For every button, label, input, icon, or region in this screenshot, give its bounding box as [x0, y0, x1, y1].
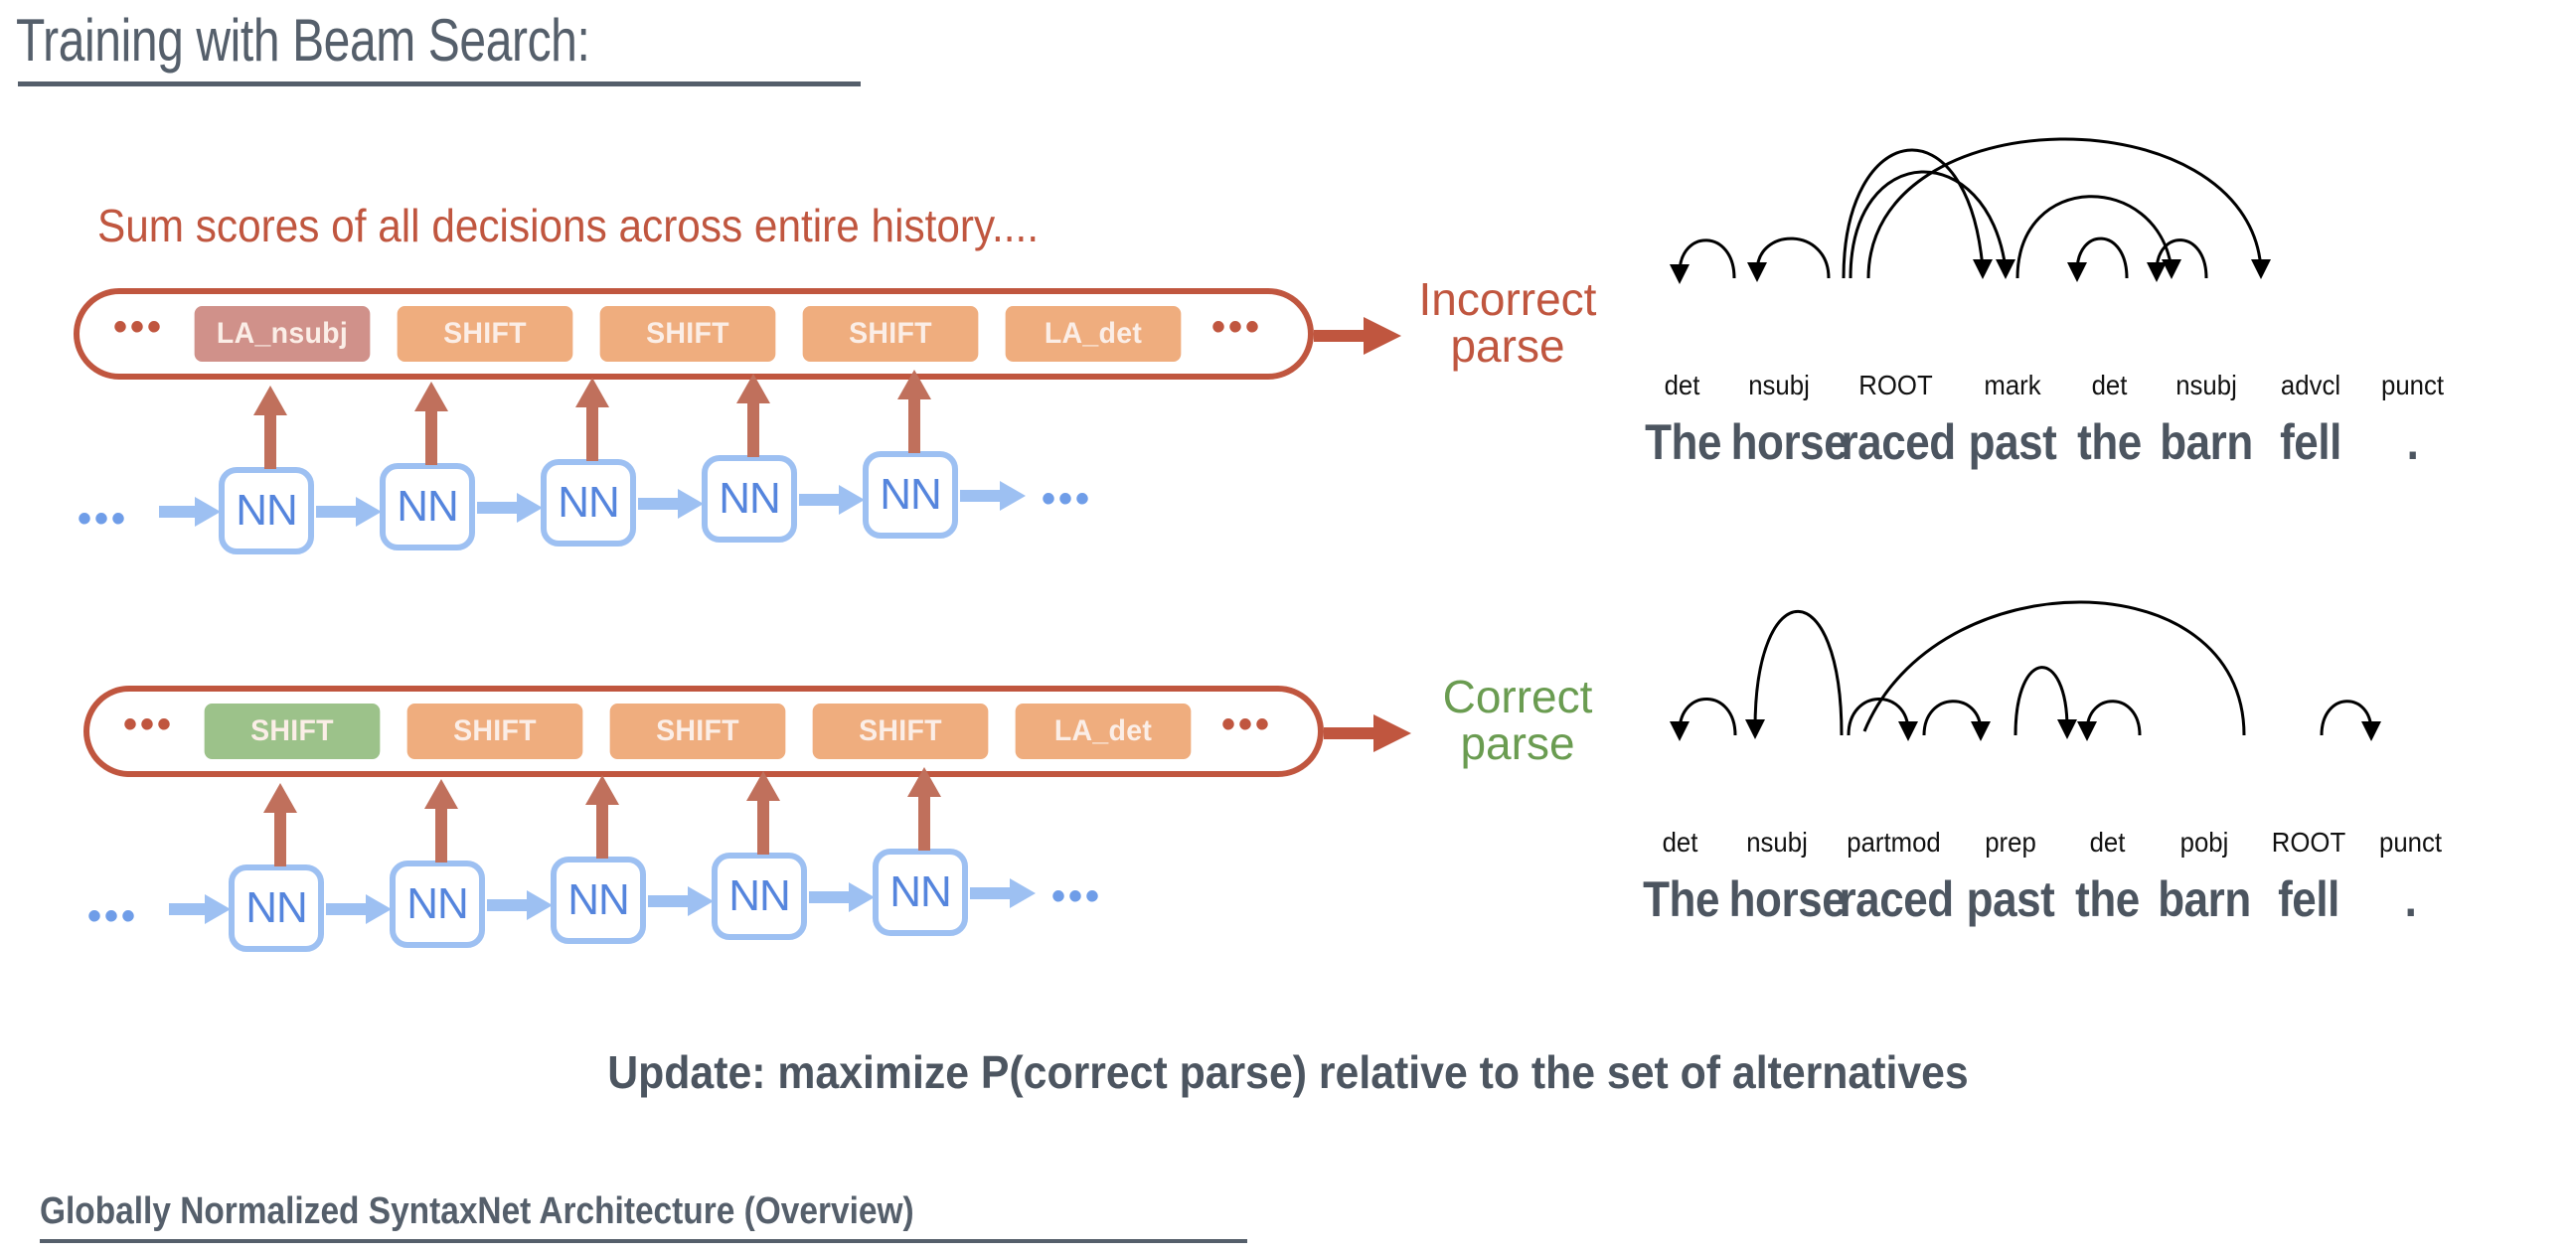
nn-output-arrow-9 [746, 771, 780, 855]
nn-right-ellipsis-1: ••• [1042, 479, 1092, 519]
sentence-word-3: past [1965, 413, 2061, 471]
arrow-shaft [1314, 330, 1368, 342]
dep-label-4: det [2068, 827, 2146, 859]
sum-scores-caption: Sum scores of all decisions across entir… [97, 199, 1039, 252]
incorrect-parse-label: Incorrect parse [1393, 276, 1622, 370]
arrow-head [205, 894, 231, 924]
sentence-word-0: The [1645, 413, 1719, 471]
arrow-shaft [316, 506, 358, 518]
nn-right-ellipsis-2: ••• [1051, 876, 1102, 916]
action-chip-la-det-correct[interactable]: LA_det [1016, 704, 1192, 759]
action-chip-shift-3[interactable]: SHIFT [803, 306, 979, 362]
arrow-shaft [264, 411, 276, 469]
arrow-shaft [918, 793, 930, 851]
arrow-head [195, 497, 221, 527]
nn-chain-correct: ••• NN NN NN [80, 855, 1352, 1004]
nn-box-1[interactable]: NN [219, 467, 314, 554]
nn-input-arrow-1 [159, 497, 219, 527]
correct-parse-label-line1: Correct [1403, 674, 1632, 720]
sentence-word-1: horse [1729, 870, 1826, 928]
arrow-shaft [1324, 727, 1377, 739]
action-chip-shift-2[interactable]: SHIFT [600, 306, 776, 362]
dep-label-2: partmod [1837, 827, 1951, 859]
incorrect-dep-labels: det nsubj ROOT mark det nsubj advcl punc… [1640, 370, 2554, 401]
dep-label-7: punct [2362, 827, 2459, 859]
sentence-word-6: fell [2265, 870, 2352, 928]
incorrect-parse-label-line1: Incorrect [1393, 276, 1622, 323]
beam-right-ellipsis-incorrect: ••• [1204, 307, 1270, 361]
correct-dep-labels: det nsubj partmod prep det pobj ROOT pun… [1638, 827, 2552, 859]
action-chip-shift-1[interactable]: SHIFT [398, 306, 573, 362]
correct-sentence: The horse raced past the barn fell . [1638, 870, 2552, 928]
arrow-shaft [487, 899, 529, 911]
arrow-head [678, 489, 704, 519]
nn-box-8[interactable]: NN [551, 857, 646, 944]
beam-left-ellipsis-correct: ••• [115, 705, 182, 758]
sentence-word-5: barn [2157, 870, 2253, 928]
page-title: Training with Beam Search: [16, 6, 589, 75]
arrow-shaft [960, 490, 1002, 502]
nn-box-2[interactable]: NN [380, 463, 475, 550]
beam-row-correct: ••• SHIFT SHIFT SHIFT SHIFT LA_det ••• [83, 686, 1324, 777]
action-chip-la-det[interactable]: LA_det [1006, 306, 1182, 362]
arrow-shaft [477, 502, 519, 514]
slide-root: Training with Beam Search: Sum scores of… [0, 0, 2576, 1254]
nn-output-link-arrow [960, 481, 1026, 511]
sentence-word-2: raced [1840, 870, 1949, 928]
arrow-shaft [326, 903, 368, 915]
arrow-shaft [425, 407, 437, 465]
arrow-head [366, 894, 392, 924]
nn-chain-incorrect: ••• NN NN NN [70, 457, 1342, 606]
arrow-shaft [638, 498, 680, 510]
footer-underline [40, 1239, 1247, 1243]
nn-link-arrow-6 [487, 890, 553, 920]
dep-label-1: nsubj [1726, 827, 1827, 859]
dep-label-4: det [2070, 370, 2148, 401]
correct-parse-label: Correct parse [1403, 674, 1632, 767]
nn-link-arrow-1 [316, 497, 382, 527]
arrow-head [1000, 481, 1026, 511]
nn-box-4[interactable]: NN [702, 455, 797, 543]
incorrect-parse-arrow [1314, 317, 1405, 355]
incorrect-parse-tree: det nsubj ROOT mark det nsubj advcl punc… [1640, 79, 2554, 378]
sentence-word-4: the [2070, 870, 2145, 928]
action-chip-shift-correct-3[interactable]: SHIFT [610, 704, 786, 759]
nn-output-arrow-1 [253, 386, 287, 469]
nn-link-arrow-3 [638, 489, 704, 519]
nn-output-link-arrow-2 [970, 878, 1036, 908]
sentence-word-3: past [1963, 870, 2059, 928]
dep-label-3: prep [1960, 827, 2060, 859]
nn-box-5[interactable]: NN [863, 451, 958, 539]
arrow-head [1010, 878, 1036, 908]
arrow-shaft [169, 903, 207, 915]
arrow-shaft [908, 395, 920, 453]
dep-label-0: det [1641, 827, 1718, 859]
action-chip-shift-correct-2[interactable]: SHIFT [407, 704, 583, 759]
arrow-shaft [648, 895, 690, 907]
beam-left-ellipsis-incorrect: ••• [105, 307, 172, 361]
correct-parse-arcs [1638, 537, 2552, 765]
action-chip-shift-correct-4[interactable]: SHIFT [813, 704, 989, 759]
nn-output-arrow-6 [263, 783, 297, 866]
arrow-shaft [596, 801, 608, 859]
dep-label-0: det [1643, 370, 1720, 401]
nn-box-6[interactable]: NN [229, 864, 324, 952]
nn-output-arrow-4 [736, 374, 770, 457]
incorrect-sentence: The horse raced past the barn fell . [1640, 413, 2554, 471]
nn-link-arrow-8 [809, 882, 875, 912]
arrow-shaft [747, 399, 759, 457]
nn-link-arrow-2 [477, 493, 543, 523]
dep-label-5: nsubj [2156, 370, 2256, 401]
dep-label-6: ROOT [2263, 827, 2354, 859]
arrow-head [839, 485, 865, 515]
sentence-word-6: fell [2267, 413, 2354, 471]
correct-parse-label-line2: parse [1403, 720, 1632, 767]
incorrect-parse-arcs [1640, 79, 2554, 308]
nn-box-7[interactable]: NN [390, 861, 485, 948]
nn-link-arrow-5 [326, 894, 392, 924]
dep-label-2: ROOT [1839, 370, 1953, 401]
dep-label-1: nsubj [1728, 370, 1829, 401]
nn-box-3[interactable]: NN [541, 459, 636, 547]
dep-label-6: advcl [2265, 370, 2356, 401]
nn-output-arrow-3 [575, 378, 609, 461]
arrow-shaft [799, 494, 841, 506]
nn-left-ellipsis-1: ••• [78, 499, 128, 539]
sentence-word-1: horse [1731, 413, 1828, 471]
sentence-word-0: The [1643, 870, 1717, 928]
nn-link-arrow-7 [648, 886, 714, 916]
nn-link-arrow-4 [799, 485, 865, 515]
nn-left-ellipsis-2: ••• [87, 896, 138, 936]
incorrect-parse-label-line2: parse [1393, 323, 1622, 370]
footer-caption: Globally Normalized SyntaxNet Architectu… [40, 1190, 914, 1233]
sentence-word-2: raced [1842, 413, 1951, 471]
nn-output-arrow-7 [424, 779, 458, 862]
sentence-word-5: barn [2159, 413, 2255, 471]
action-chip-la-nsubj[interactable]: LA_nsubj [195, 306, 371, 362]
nn-box-10[interactable]: NN [873, 849, 968, 936]
update-caption: Update: maximize P(correct parse) relati… [90, 1045, 2487, 1099]
correct-parse-arrow [1324, 714, 1415, 752]
sentence-word-7: . [2364, 870, 2456, 928]
arrow-head [849, 882, 875, 912]
page-title-underline [18, 81, 861, 86]
arrow-shaft [435, 805, 447, 862]
arrow-head [688, 886, 714, 916]
dep-label-3: mark [1962, 370, 2062, 401]
nn-input-arrow-2 [169, 894, 229, 924]
arrow-shaft [586, 403, 598, 461]
sentence-word-4: the [2072, 413, 2147, 471]
sentence-word-7: . [2366, 413, 2458, 471]
arrow-head [527, 890, 553, 920]
nn-box-9[interactable]: NN [712, 853, 807, 940]
action-chip-shift-correct-1[interactable]: SHIFT [205, 704, 381, 759]
beam-right-ellipsis-correct: ••• [1213, 705, 1280, 758]
nn-output-arrow-5 [897, 370, 931, 453]
arrow-shaft [809, 891, 851, 903]
arrow-shaft [757, 797, 769, 855]
arrow-head [517, 493, 543, 523]
arrow-head [356, 497, 382, 527]
nn-output-arrow-2 [414, 382, 448, 465]
nn-output-arrow-8 [585, 775, 619, 859]
dep-label-5: pobj [2154, 827, 2254, 859]
dep-label-7: punct [2364, 370, 2461, 401]
nn-output-arrow-10 [907, 767, 941, 851]
correct-parse-tree: det nsubj partmod prep det pobj ROOT pun… [1638, 537, 2552, 835]
arrow-shaft [159, 506, 197, 518]
arrow-shaft [274, 809, 286, 866]
arrow-shaft [970, 887, 1012, 899]
beam-row-incorrect: ••• LA_nsubj SHIFT SHIFT SHIFT LA_det ••… [74, 288, 1314, 380]
